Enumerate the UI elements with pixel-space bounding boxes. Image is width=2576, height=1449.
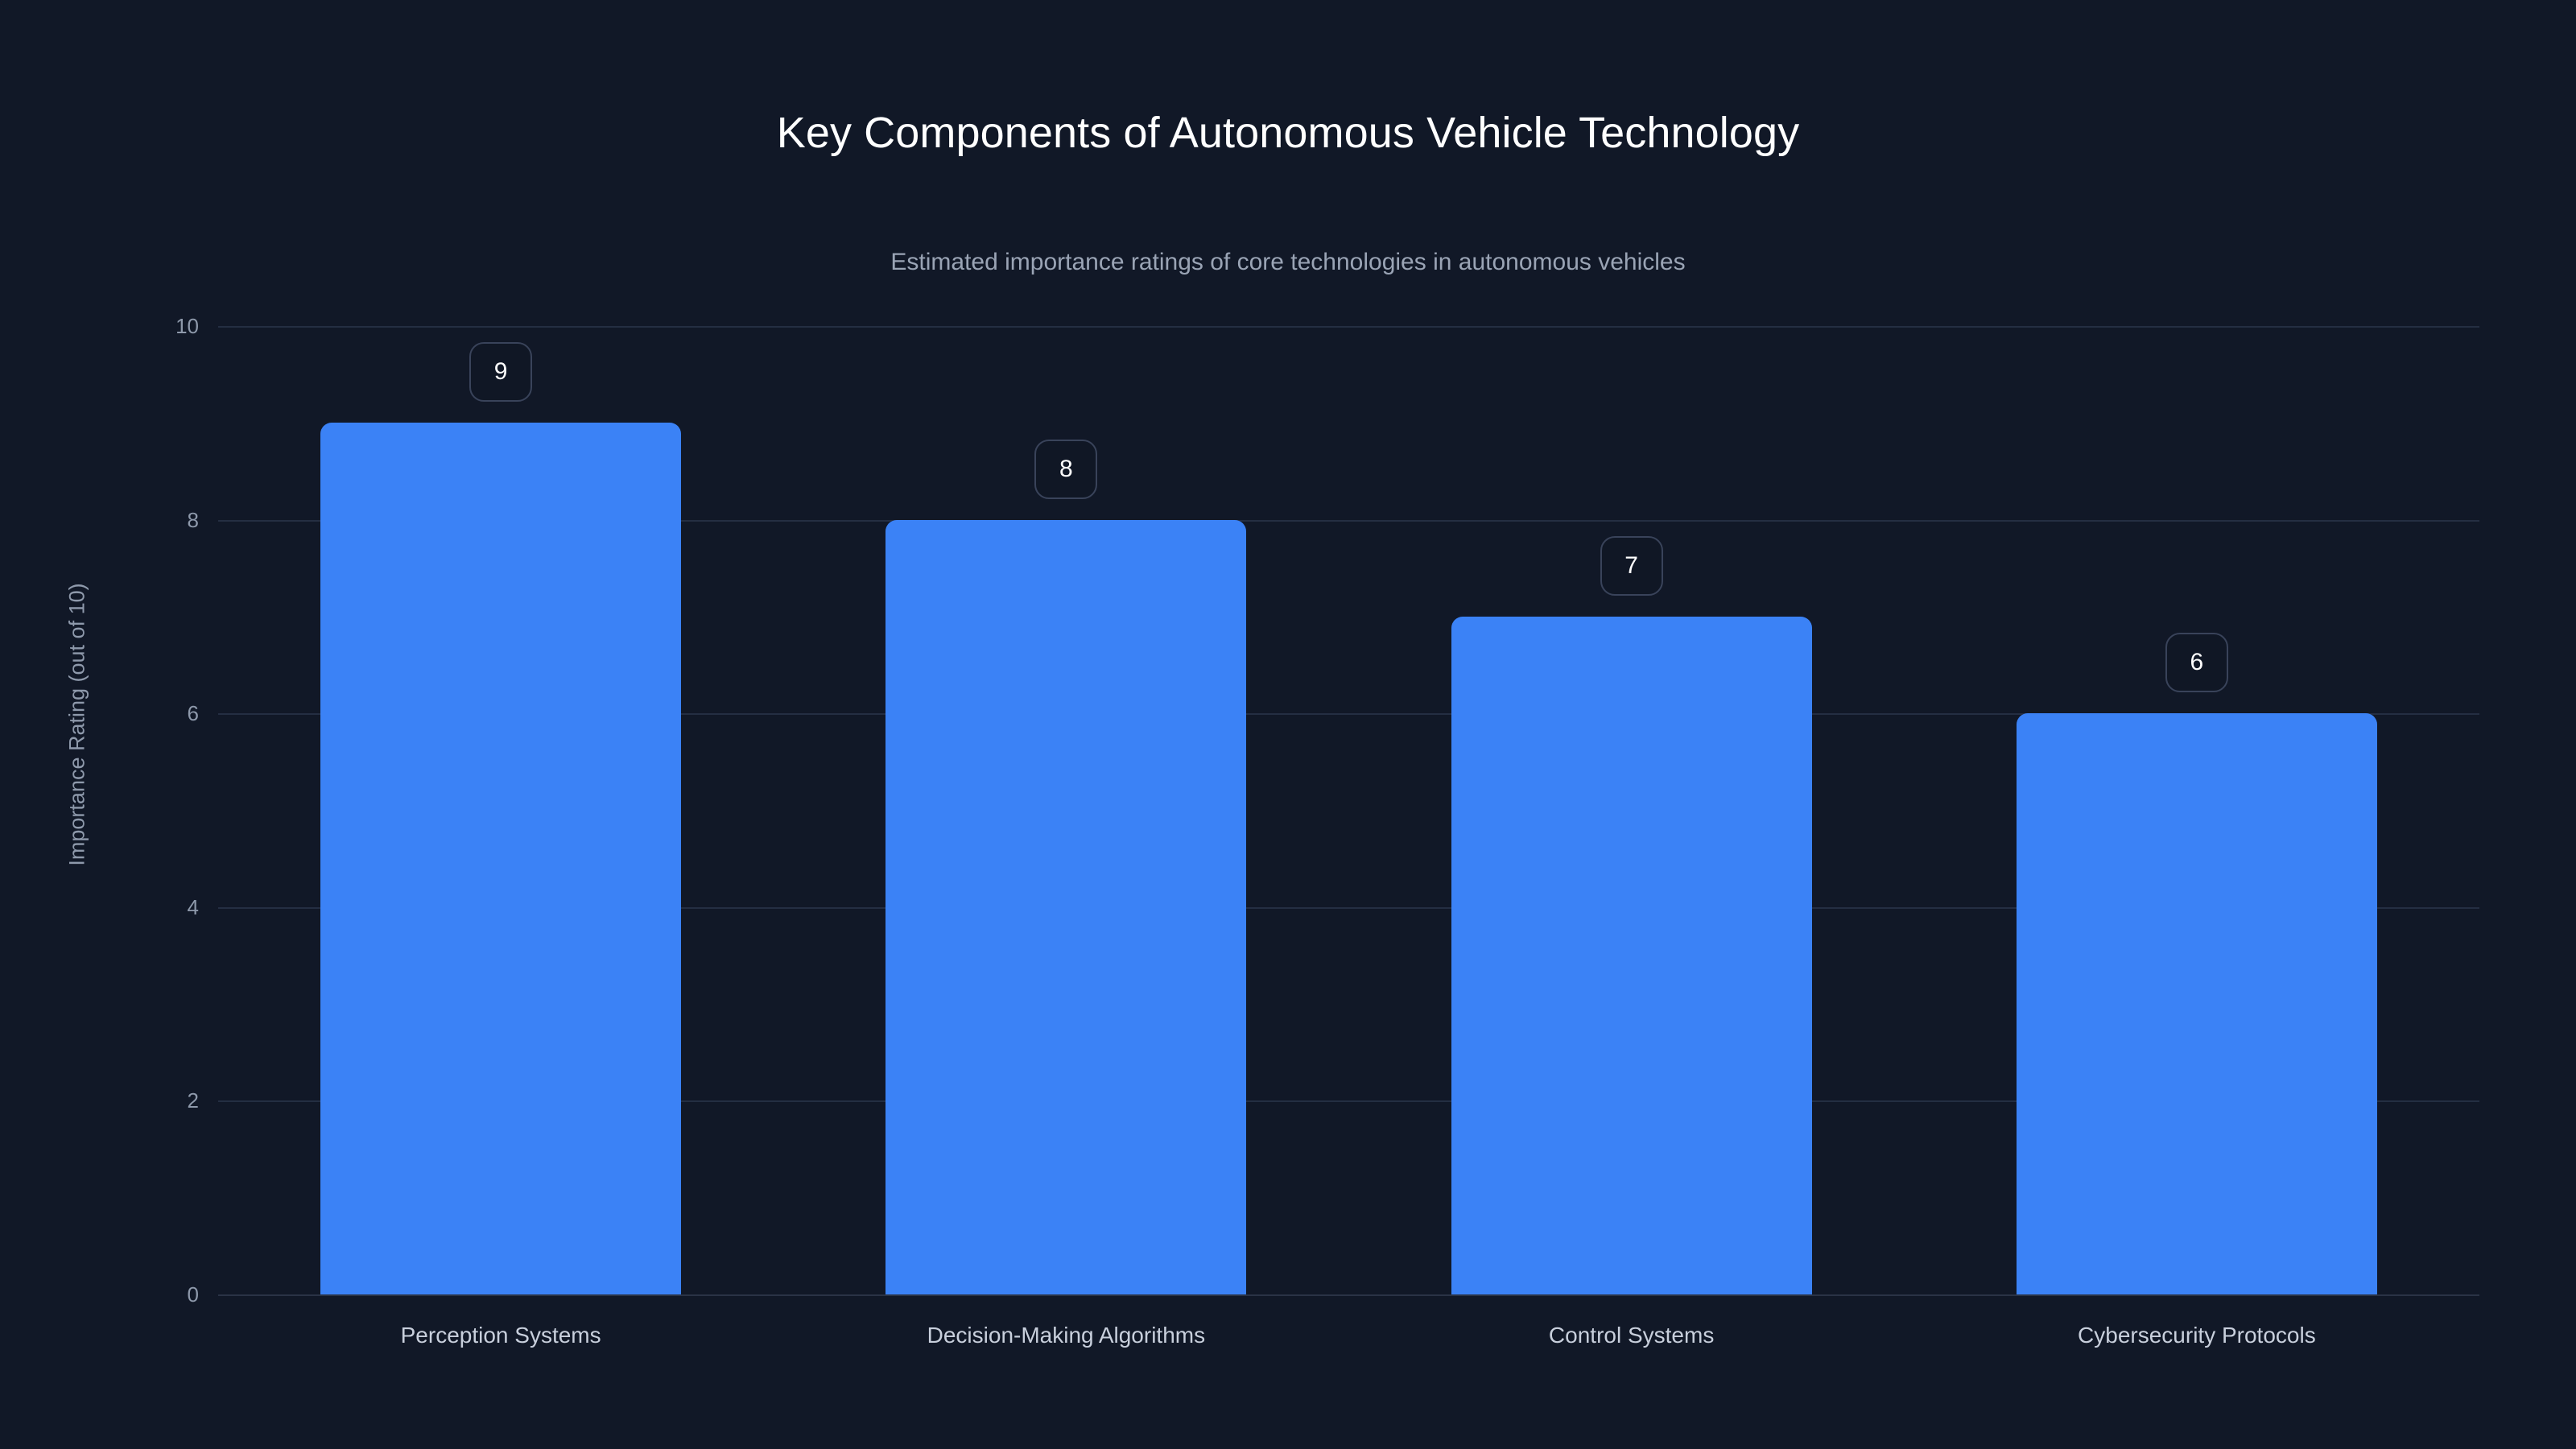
plot-area: 02468109Perception Systems8Decision-Maki… bbox=[218, 326, 2479, 1294]
bar-group: 7Control Systems bbox=[1451, 326, 1812, 1294]
x-tick-label: Cybersecurity Protocols bbox=[2078, 1323, 2316, 1348]
bar-group: 9Perception Systems bbox=[320, 326, 681, 1294]
x-tick-label: Perception Systems bbox=[401, 1323, 601, 1348]
value-badge: 9 bbox=[469, 342, 532, 402]
value-badge: 7 bbox=[1600, 536, 1663, 596]
bar-chart-canvas: Key Components of Autonomous Vehicle Tec… bbox=[0, 0, 2576, 1449]
chart-title: Key Components of Autonomous Vehicle Tec… bbox=[0, 107, 2576, 159]
bar-group: 8Decision-Making Algorithms bbox=[885, 326, 1246, 1294]
chart-subtitle: Estimated importance ratings of core tec… bbox=[0, 247, 2576, 278]
y-tick-label: 2 bbox=[102, 1090, 199, 1111]
y-tick-label: 0 bbox=[102, 1284, 199, 1305]
gridline-y-0 bbox=[218, 1294, 2479, 1296]
y-tick-label: 10 bbox=[102, 316, 199, 336]
y-tick-label: 6 bbox=[102, 703, 199, 724]
y-tick-label: 8 bbox=[102, 510, 199, 530]
bar-3[interactable] bbox=[1451, 617, 1812, 1294]
bar-4[interactable] bbox=[2017, 713, 2377, 1294]
value-badge: 6 bbox=[2165, 633, 2228, 692]
bar-2[interactable] bbox=[885, 520, 1246, 1294]
y-tick-label: 4 bbox=[102, 897, 199, 918]
bar-1[interactable] bbox=[320, 423, 681, 1294]
x-tick-label: Control Systems bbox=[1549, 1323, 1714, 1348]
value-badge: 8 bbox=[1034, 440, 1097, 499]
x-tick-label: Decision-Making Algorithms bbox=[927, 1323, 1205, 1348]
y-axis-title: Importance Rating (out of 10) bbox=[65, 583, 90, 865]
bar-group: 6Cybersecurity Protocols bbox=[2017, 326, 2377, 1294]
